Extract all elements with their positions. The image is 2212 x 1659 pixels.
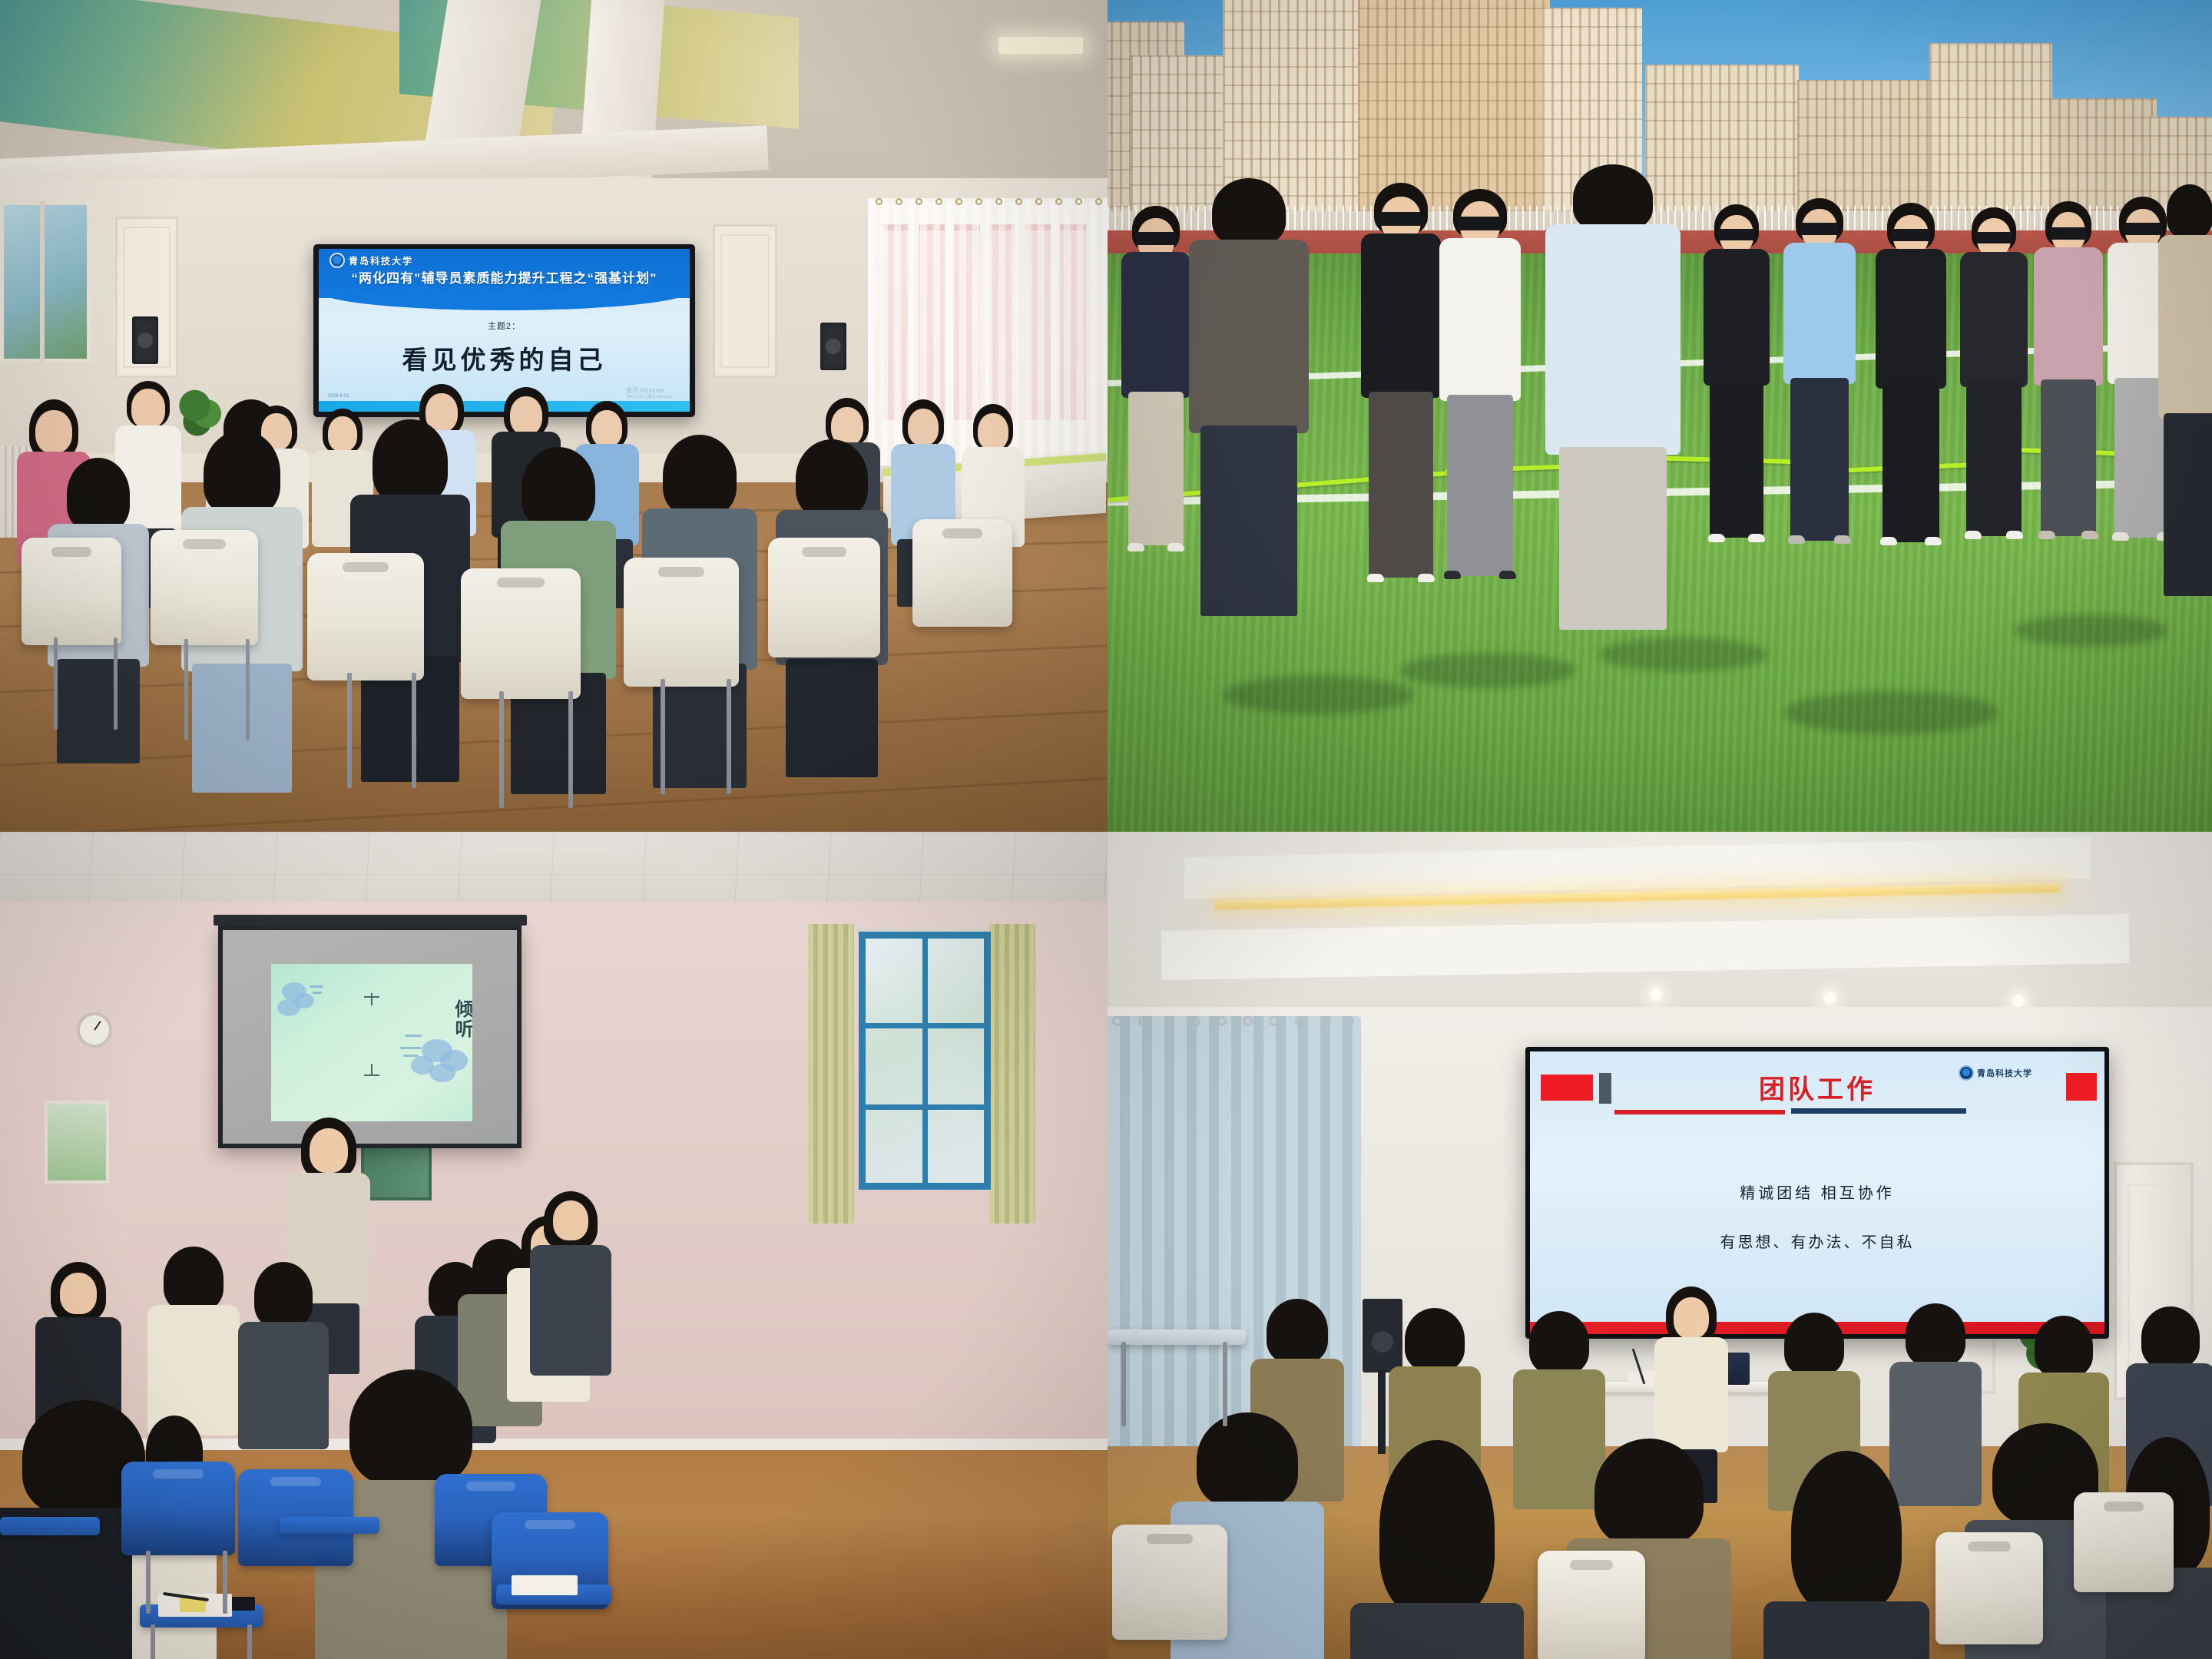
participant-blindfolded (1876, 203, 1946, 545)
panel-classroom-listening[interactable]: 倾听 (0, 832, 1108, 1659)
chair (912, 519, 1012, 627)
photo-collage: 青岛科技大学 “两化四有”辅导员素质能力提升工程之“强基计划” 主题2： 看见优… (0, 0, 2212, 1659)
curtain-rings (1108, 1016, 1361, 1028)
wall-display-tv[interactable]: 团队工作 青岛科技大学 精诚团结 相互协作 有思想、有办法、不自私 (1525, 1047, 2109, 1339)
projected-slide: 倾听 (271, 964, 472, 1121)
chair (1112, 1525, 1227, 1640)
chair (461, 568, 581, 699)
smartphone (232, 1597, 255, 1611)
chair (307, 553, 424, 680)
chair (768, 538, 880, 657)
slide-body-line-2: 有思想、有办法、不自私 (1530, 1230, 2104, 1252)
notebook (512, 1575, 578, 1595)
ceiling-light (998, 37, 1083, 54)
slide-body-line-1: 精诚团结 相互协作 (1530, 1181, 2104, 1203)
wall-picture (45, 1101, 109, 1184)
desk[interactable] (496, 1584, 611, 1604)
chair (121, 1462, 235, 1555)
door[interactable] (713, 224, 777, 378)
downlight (2012, 995, 2025, 1007)
audience-member-foreground (1763, 1451, 1929, 1659)
desk (0, 1517, 100, 1535)
participant-blindfolded (2034, 201, 2103, 539)
facilitator-foreground (1545, 164, 1681, 625)
student (530, 1191, 611, 1406)
downlight (1650, 988, 1662, 1001)
chair (22, 538, 121, 645)
projector-screen-housing (214, 915, 527, 926)
projected-slide-title: 倾听 (271, 999, 472, 1039)
chair (1538, 1551, 1645, 1659)
window (859, 932, 991, 1190)
desk (280, 1517, 379, 1534)
participant-blindfolded (1704, 204, 1770, 542)
chair (624, 558, 739, 687)
panel-outdoor-rope-activity[interactable] (1108, 0, 2212, 832)
slide-screen: 团队工作 青岛科技大学 精诚团结 相互协作 有思想、有办法、不自私 (1530, 1051, 2104, 1334)
participant-blindfolded (1121, 206, 1190, 551)
slide-subtitle: 主题2： (319, 320, 690, 332)
university-seal-icon: 青岛科技大学 (329, 253, 413, 268)
wall-clock-icon (77, 1012, 112, 1048)
audience-member-foreground (1350, 1440, 1524, 1659)
curtain (989, 924, 1035, 1224)
panel-lecture-teamwork[interactable]: 团队工作 青岛科技大学 精诚团结 相互协作 有思想、有办法、不自私 (1108, 832, 2212, 1659)
windows-activation-watermark: 激活 Windows 转到“设置”以激活 Windows。 (626, 387, 676, 399)
slide-rule (1614, 1110, 1785, 1114)
participant-blindfolded (1439, 189, 1521, 579)
slide-banner-text: “两化四有”辅导员素质能力提升工程之“强基计划” (319, 267, 690, 286)
projector-screen[interactable]: 倾听 (218, 926, 522, 1148)
participant-blindfolded (1361, 183, 1441, 582)
window (0, 201, 91, 363)
curtain (808, 924, 854, 1224)
participant-foreground (1189, 178, 1309, 608)
university-seal-icon: 青岛科技大学 (1959, 1065, 2032, 1081)
participant-blindfolded (1783, 198, 1856, 544)
participant-blindfolded (1960, 207, 2028, 539)
slide-rule (1791, 1108, 1966, 1114)
panel-seminar-circle[interactable]: 青岛科技大学 “两化四有”辅导员素质能力提升工程之“强基计划” 主题2： 看见优… (0, 0, 1108, 832)
slide-title: 看见优秀的自己 (319, 339, 690, 376)
slide-university-name: 青岛科技大学 (349, 254, 413, 267)
chair (1936, 1532, 2043, 1644)
participant-foreground (2158, 184, 2212, 599)
slide-date-stamp: 2023-9-25 (328, 394, 349, 399)
slide-university-name: 青岛科技大学 (1977, 1067, 2032, 1079)
chair (151, 530, 258, 645)
loudspeaker-icon (132, 316, 158, 364)
window-mullion (40, 201, 45, 363)
desk[interactable] (140, 1604, 263, 1628)
downlight (1823, 992, 1836, 1004)
loudspeaker-icon (820, 323, 846, 370)
chair (2074, 1492, 2174, 1592)
